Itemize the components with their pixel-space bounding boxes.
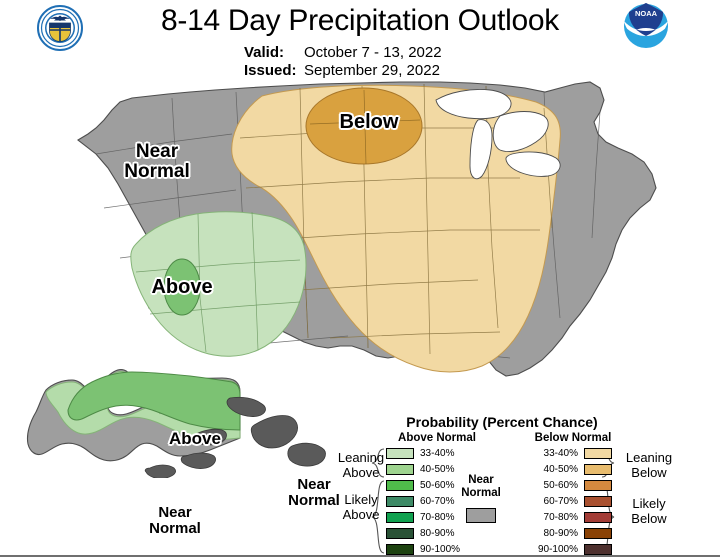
- legend-swatch-near-normal: [466, 508, 496, 523]
- legend-label-above-6: 90-100%: [420, 544, 460, 555]
- leaning-above-line1: Leaning: [328, 450, 394, 465]
- legend-swatch-below-5: [584, 528, 612, 539]
- legend-label-below-0: 33-40%: [522, 448, 578, 459]
- leaning-below-line1: Leaning: [616, 450, 682, 465]
- map-label-near-normal-aleutians: Near Normal: [140, 505, 210, 537]
- alaska-region: [27, 369, 325, 478]
- leaning-above-line2: Above: [328, 465, 394, 480]
- noaa-logo-icon: NOAA: [622, 2, 670, 52]
- legend-label-above-5: 80-90%: [420, 528, 454, 539]
- legend-swatch-above-4: [386, 512, 414, 523]
- legend-near-normal-line1: Near: [446, 474, 516, 487]
- page-title: 8-14 Day Precipitation Outlook: [110, 4, 610, 38]
- map-label-line1: Below: [333, 112, 405, 133]
- likely-below-label: Likely Below: [616, 496, 682, 526]
- legend-label-above-0: 33-40%: [420, 448, 454, 459]
- outlook-figure-frame: 8-14 Day Precipitation Outlook Valid:Oct…: [0, 0, 720, 557]
- department-of-commerce-seal-icon: [36, 4, 84, 52]
- likely-below-line1: Likely: [616, 496, 682, 511]
- legend-swatch-below-4: [584, 512, 612, 523]
- map-label-line1: Above: [146, 277, 218, 298]
- legend-swatch-below-3: [584, 496, 612, 507]
- likely-below-line2: Below: [616, 511, 682, 526]
- legend-swatch-above-0: [386, 448, 414, 459]
- legend-above-normal-heading: Above Normal: [382, 432, 492, 444]
- legend-swatch-below-6: [584, 544, 612, 555]
- legend-label-below-2: 50-60%: [522, 480, 578, 491]
- legend-label-below-3: 60-70%: [522, 496, 578, 507]
- legend-label-below-1: 40-50%: [522, 464, 578, 475]
- legend-swatch-below-2: [584, 480, 612, 491]
- likely-above-line1: Likely: [328, 492, 394, 507]
- legend-swatch-above-1: [386, 464, 414, 475]
- map-label-below: Below: [333, 112, 405, 133]
- legend-swatch-above-3: [386, 496, 414, 507]
- legend-label-below-6: 90-100%: [522, 544, 578, 555]
- legend: Probability (Percent Chance) Above Norma…: [330, 412, 670, 557]
- likely-above-line2: Above: [328, 507, 394, 522]
- legend-swatch-above-2: [386, 480, 414, 491]
- map-label-above-alaska: Above: [162, 430, 228, 448]
- map-label-line2: Normal: [112, 162, 202, 182]
- legend-swatch-above-5: [386, 528, 414, 539]
- noaa-wordmark: NOAA: [635, 9, 658, 18]
- leaning-above-label: Leaning Above: [328, 450, 394, 480]
- leaning-below-line2: Below: [616, 465, 682, 480]
- map-label-line1: Near: [140, 505, 210, 521]
- map-label-line1: Near: [112, 142, 202, 162]
- legend-title: Probability (Percent Chance): [382, 414, 622, 430]
- leaning-below-label: Leaning Below: [616, 450, 682, 480]
- map-label-line1: Above: [162, 430, 228, 448]
- legend-label-below-4: 70-80%: [522, 512, 578, 523]
- legend-swatch-below-1: [584, 464, 612, 475]
- legend-swatch-above-6: [386, 544, 414, 555]
- map-label-above-southwest: Above: [146, 277, 218, 298]
- legend-label-below-5: 80-90%: [522, 528, 578, 539]
- map-label-line2: Normal: [140, 521, 210, 537]
- legend-near-normal-block: Near Normal: [446, 474, 516, 523]
- legend-near-normal-line2: Normal: [446, 487, 516, 500]
- likely-above-label: Likely Above: [328, 492, 394, 522]
- map-label-near-normal-northwest: Near Normal: [112, 142, 202, 182]
- legend-swatch-below-0: [584, 448, 612, 459]
- legend-below-normal-heading: Below Normal: [518, 432, 628, 444]
